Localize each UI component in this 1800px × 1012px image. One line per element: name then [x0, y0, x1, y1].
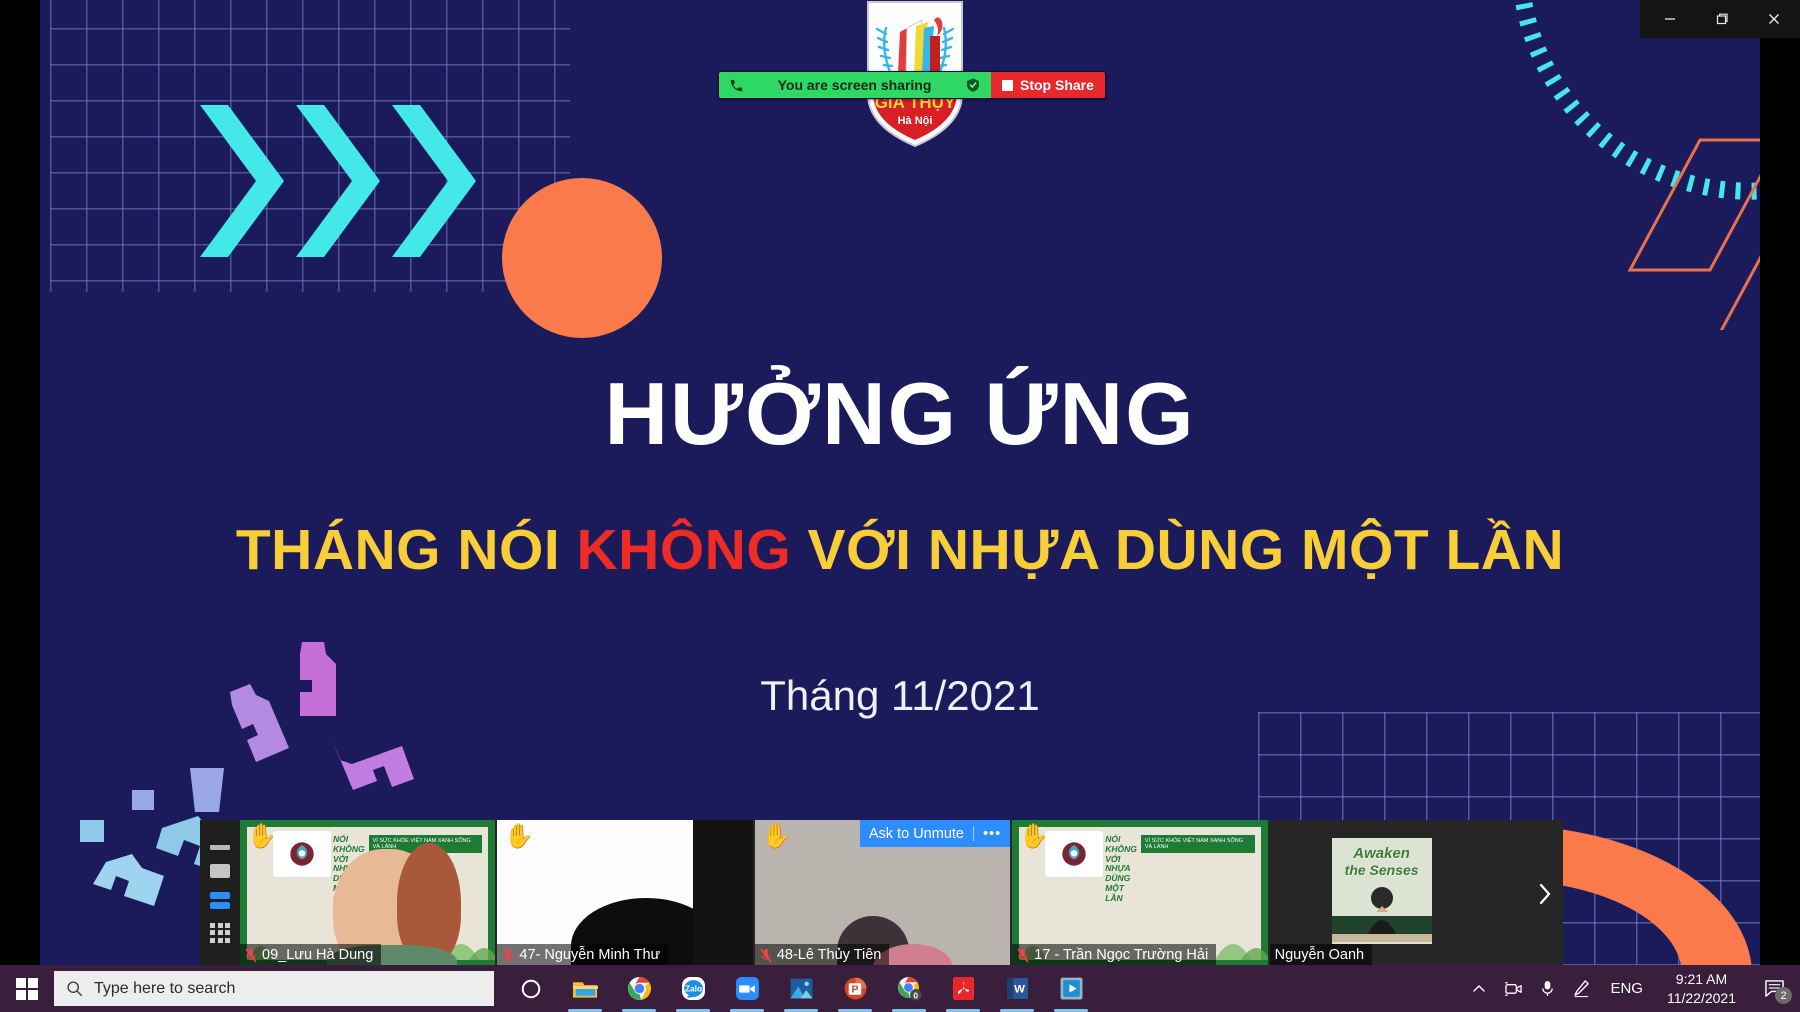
subtitle-part-1: THÁNG NÓI [236, 518, 577, 582]
pen-icon[interactable] [1564, 965, 1598, 1012]
participant-name: 47- Nguyễn Minh Thư [519, 947, 660, 963]
raise-hand-icon: ✋ [1019, 825, 1049, 849]
participant-tile[interactable]: NÓI KHÔNG VỚI NHỰA DÙNG MỘT LẦN VÌ SỨC K… [1012, 820, 1267, 967]
taskbar-app-chrome-secondary[interactable]: 0 [882, 965, 936, 1012]
windows-taskbar: Type here to search [0, 965, 1800, 1012]
search-input[interactable]: Type here to search [54, 971, 494, 1006]
participant-name: 17 - Trần Ngọc Trường Hải [1034, 947, 1208, 963]
taskbar-app-photos[interactable] [774, 965, 828, 1012]
cortana-icon [520, 978, 542, 1000]
svg-text:W: W [1014, 984, 1025, 996]
participant-name: 48-Lê Thủy Tiên [777, 947, 882, 963]
slide-title: HƯỞNG ỨNG [40, 370, 1760, 458]
subtitle-highlight: KHÔNG [577, 518, 792, 582]
logo-location: Hà Nội [898, 115, 933, 127]
overlay-text-line2: the Senses [1345, 862, 1419, 878]
adobe-reader-icon [952, 976, 975, 1001]
window-controls [1640, 0, 1800, 38]
zoom-icon [735, 976, 760, 1001]
taskbar-app-word[interactable]: W [990, 965, 1044, 1012]
svg-text:P: P [851, 985, 858, 996]
windows-logo-icon [16, 978, 38, 1000]
participant-video-dark-edge [693, 820, 752, 967]
environment-logo-icon [289, 841, 315, 867]
raise-hand-icon: ✋ [247, 825, 277, 849]
participant-filmstrip: NÓI KHÔNG VỚI NHỰA DÙNG MỘT LẦN VÌ SỨC K… [200, 820, 1563, 967]
taskbar-app-zalo[interactable]: Zalo [666, 965, 720, 1012]
slide-date: Tháng 11/2021 [40, 672, 1760, 720]
chrome-icon [627, 976, 652, 1001]
participant-name-badge: 48-Lê Thủy Tiên [755, 944, 890, 966]
taskbar-app-zoom[interactable] [720, 965, 774, 1012]
poster-logo [273, 831, 331, 877]
environment-logo-icon [1061, 841, 1087, 867]
participant-name-badge: Nguyễn Oanh [1270, 944, 1372, 966]
svg-text:0: 0 [913, 990, 918, 1000]
minimize-button[interactable] [1644, 0, 1696, 38]
desktop-screen: HƯỞNG ỨNG THÁNG NÓI KHÔNG VỚI NHỰA DÙNG … [0, 0, 1800, 1012]
next-page-arrow-icon[interactable] [1527, 820, 1563, 967]
subtitle-part-2: VỚI NHỰA DÙNG MỘT LẦN [791, 518, 1564, 582]
shield-check-icon[interactable] [965, 77, 981, 93]
start-button[interactable] [0, 965, 54, 1012]
search-placeholder: Type here to search [94, 980, 235, 998]
participant-video-thumbnail: Awaken the Senses [1332, 838, 1432, 944]
participant-tile[interactable]: Awaken the Senses Nguyễn Oanh [1270, 820, 1525, 967]
poster-logo [1045, 831, 1103, 877]
taskbar-app-powerpoint[interactable]: P [828, 965, 882, 1012]
file-explorer-icon [572, 977, 599, 1001]
close-button[interactable] [1748, 0, 1800, 38]
taskbar-app-media-player[interactable] [1044, 965, 1098, 1012]
taskbar-app-cortana[interactable] [504, 965, 558, 1012]
muted-mic-icon [245, 948, 257, 963]
restore-button[interactable] [1696, 0, 1748, 38]
taskbar-app-chrome[interactable] [612, 965, 666, 1012]
sharing-status: You are screen sharing [719, 72, 991, 98]
microphone-icon[interactable] [1530, 965, 1564, 1012]
chevron-arrows-decoration [200, 95, 500, 275]
notification-count-badge: 2 [1775, 987, 1792, 1004]
poster-chip: VÌ SỨC KHỎE VIỆT NAM XANH SỐNG VÀ LÀNH [1141, 835, 1255, 853]
participant-name: Nguyễn Oanh [1275, 947, 1364, 963]
raise-hand-icon: ✋ [762, 825, 792, 849]
photos-icon [789, 976, 814, 1001]
parallelogram-outline-decoration [1590, 120, 1760, 330]
taskbar-apps: Zalo [504, 965, 1098, 1012]
view-mode-switcher [200, 820, 240, 967]
stop-share-button[interactable]: Stop Share [991, 72, 1105, 98]
participant-name-badge: 17 - Trần Ngọc Trường Hải [1012, 944, 1216, 966]
clock-date: 11/22/2021 [1667, 989, 1736, 1008]
taskbar-app-file-explorer[interactable] [558, 965, 612, 1012]
svg-text:Zalo: Zalo [684, 984, 701, 994]
ask-to-unmute-label: Ask to Unmute [860, 826, 973, 842]
participant-tiles: NÓI KHÔNG VỚI NHỰA DÙNG MỘT LẦN VÌ SỨC K… [240, 820, 1527, 967]
stop-share-label: Stop Share [1020, 77, 1094, 93]
raise-hand-icon: ✋ [504, 825, 534, 849]
chrome-profile-icon: 0 [897, 976, 922, 1001]
muted-mic-icon [1017, 948, 1029, 963]
ask-to-unmute-control[interactable]: Ask to Unmute ••• [860, 820, 1010, 847]
media-player-icon [1059, 976, 1084, 1001]
speaker-view-icon[interactable] [209, 864, 231, 878]
show-hidden-icons-chevron-up-icon[interactable] [1462, 965, 1496, 1012]
participant-name-badge: 09_Lưu Hà Dung [240, 944, 381, 966]
participant-tile[interactable]: NÓI KHÔNG VỚI NHỰA DÙNG MỘT LẦN VÌ SỨC K… [240, 820, 495, 967]
participant-name: 09_Lưu Hà Dung [262, 947, 373, 963]
participant-name-badge: 47- Nguyễn Minh Thư [497, 944, 668, 966]
orange-circle-decoration [502, 178, 662, 338]
clock-time: 9:21 AM [1667, 970, 1736, 989]
slide-subtitle: THÁNG NÓI KHÔNG VỚI NHỰA DÙNG MỘT LẦN [40, 522, 1760, 579]
screen-sharing-banner: You are screen sharing Stop Share [718, 71, 1106, 99]
participant-figure [1332, 882, 1432, 942]
notification-center-button[interactable]: 2 [1748, 965, 1800, 1012]
clock[interactable]: 9:21 AM 11/22/2021 [1655, 970, 1748, 1008]
grid-view-icon[interactable] [209, 923, 231, 943]
participant-tile[interactable]: ✋ Ask to Unmute ••• 48-Lê Thủy Tiên [755, 820, 1010, 967]
poster-headline-line2: NHỰA DÙNG MỘT LẦN [1105, 864, 1137, 903]
word-icon: W [1006, 976, 1029, 1001]
camera-icon[interactable] [1496, 965, 1530, 1012]
phone-icon [729, 78, 744, 93]
muted-mic-icon [502, 948, 514, 963]
sharing-message: You are screen sharing [754, 77, 955, 93]
collapse-strip-icon[interactable] [209, 845, 231, 850]
search-icon [66, 980, 83, 997]
more-options-icon[interactable]: ••• [974, 826, 1010, 842]
taskbar-app-adobe-reader[interactable] [936, 965, 990, 1012]
stop-square-icon [1002, 80, 1013, 91]
poster-headline: NÓI KHÔNG VỚI NHỰA DÙNG MỘT LẦN VÌ SỨC K… [1105, 835, 1254, 861]
powerpoint-icon: P [843, 976, 868, 1001]
zalo-icon: Zalo [681, 976, 706, 1001]
participant-tile[interactable]: ✋ 47- Nguyễn Minh Thư [497, 820, 752, 967]
muted-mic-icon [760, 948, 772, 963]
poster-headline-line1: NÓI KHÔNG VỚI [1105, 835, 1137, 864]
system-tray: ENG 9:21 AM 11/22/2021 2 [1462, 965, 1800, 1012]
language-indicator[interactable]: ENG [1598, 980, 1655, 997]
gallery-strip-view-icon[interactable] [209, 892, 231, 909]
overlay-text-line1: Awaken [1353, 846, 1410, 862]
